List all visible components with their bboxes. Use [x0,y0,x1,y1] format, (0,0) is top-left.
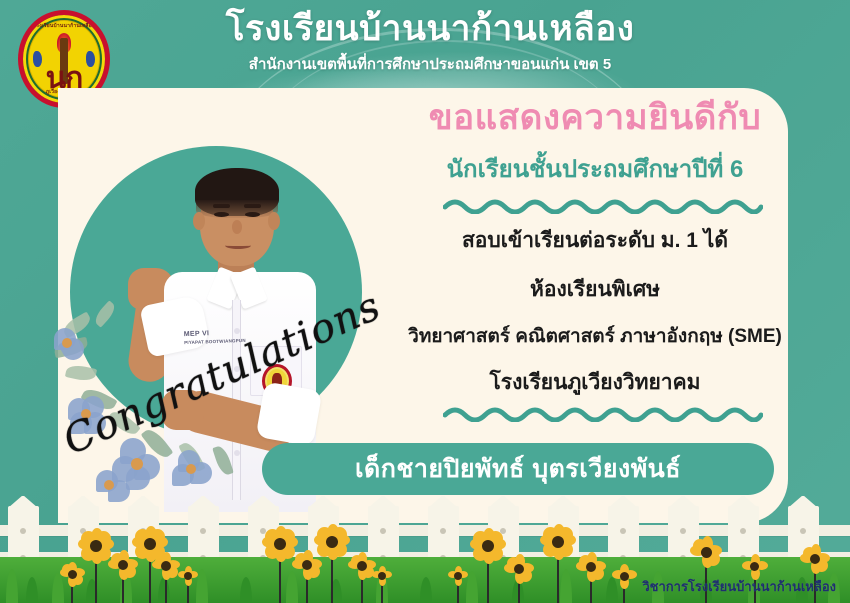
school-name-title: โรงเรียนบ้านนาก้านเหลือง [150,8,710,50]
logo-ring-top-text: โรงเรียนบ้านนาก้านเหลือง [23,22,105,30]
achievement-line-2: ห้องเรียนพิเศษ [370,276,820,303]
achievement-line-3: วิทยาศาสตร์ คณิตศาสตร์ ภาษาอังกฤษ (SME) [370,325,820,350]
achievement-line-4: โรงเรียนภูเวียงวิทยาคม [370,369,820,396]
photo-ear-right [268,212,280,230]
wave-divider-bottom [443,404,763,422]
footer-credit: วิชาการโรงเรียนบ้านนาก้านเหลือง [642,576,836,597]
wave-divider-top [443,196,763,214]
photo-shirt-button [234,450,240,456]
photo-eyebrow-right [244,204,261,208]
photo-eye-right [245,212,260,217]
photo-eyebrow-left [213,204,230,208]
grade-level-subheading: นักเรียนชั้นประถมศึกษาปีที่ 6 [370,155,820,185]
photo-nose [232,220,242,234]
photo-sleeve-lower [256,381,323,446]
student-name-text: เด็กชายปิยพัทธ์ บุตรเวียงพันธ์ [355,449,681,489]
photo-hair-fade [196,200,278,218]
education-office-subtitle: สำนักงานเขตพื้นที่การศึกษาประถมศึกษาขอนแ… [150,52,710,76]
achievement-line-1: สอบเข้าเรียนต่อระดับ ม. 1 ได้ [370,227,820,254]
student-name-badge: เด็กชายปิยพัทธ์ บุตรเวียงพันธ์ [262,443,774,495]
photo-mouth [225,242,251,249]
congratulation-headline: ขอแสดงความยินดีกับ [370,96,820,140]
certificate-card: นก โรงเรียนบ้านนาก้านเหลือง ภูเวียง ขอนแ… [0,0,850,603]
photo-ear-left [193,212,205,230]
photo-eye-left [214,212,229,217]
